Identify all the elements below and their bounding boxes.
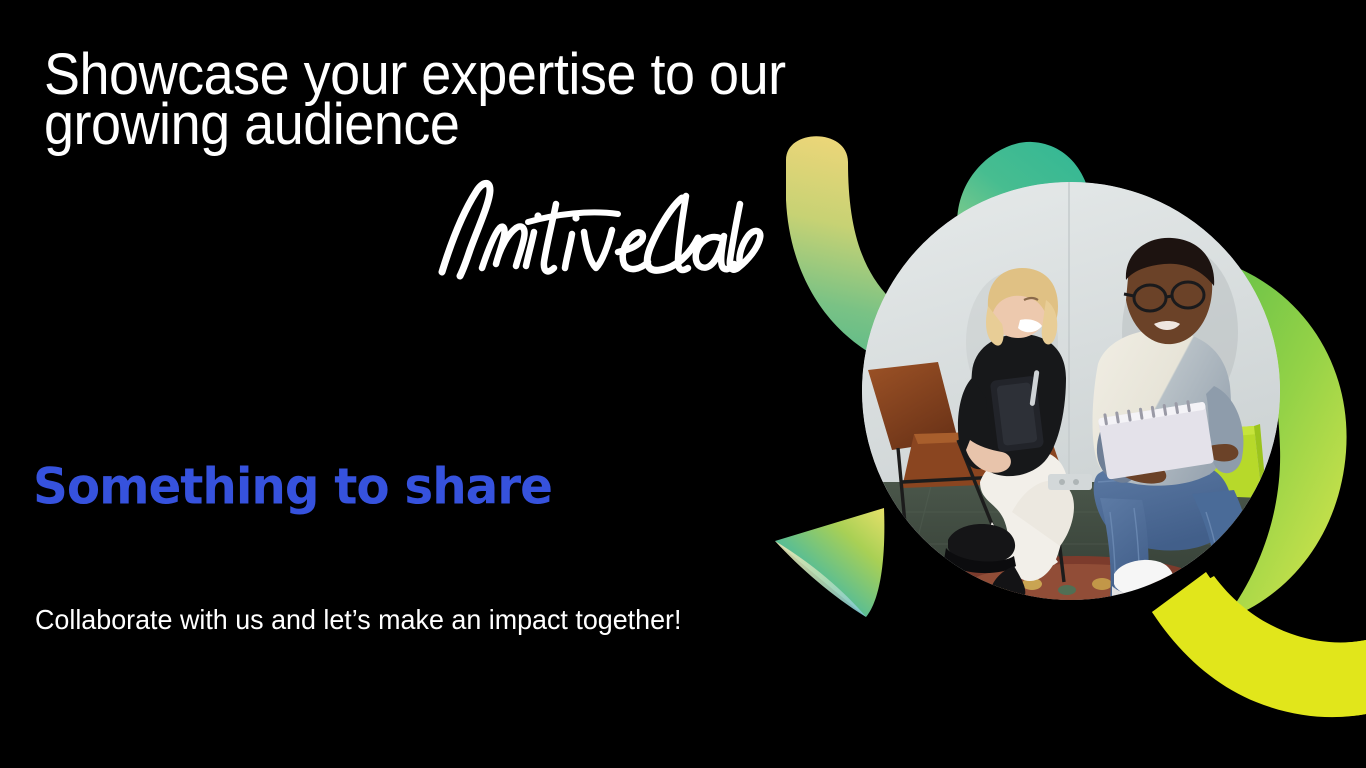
team-collaboration-photo xyxy=(862,182,1280,600)
yellow-band-icon xyxy=(1152,572,1366,717)
subheading: Something to share xyxy=(33,462,552,512)
brand-logo-initivelab: InitiveLab xyxy=(432,176,772,284)
promo-banner: Showcase your expertise to our growing a… xyxy=(0,0,1366,768)
copy-block: Showcase your expertise to our growing a… xyxy=(0,0,900,768)
page-title: Showcase your expertise to our growing a… xyxy=(44,50,825,150)
tagline: Collaborate with us and let’s make an im… xyxy=(35,605,681,636)
